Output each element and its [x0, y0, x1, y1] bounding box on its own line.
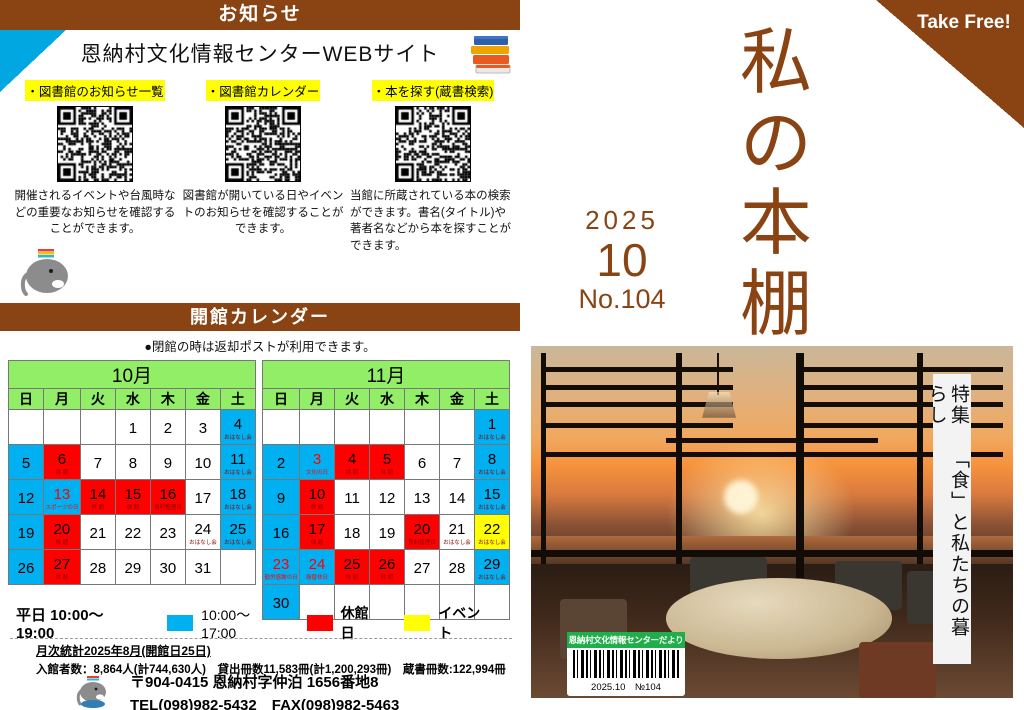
- calendar-week-row: 1234おはなし会: [9, 410, 256, 445]
- calendar-day-cell[interactable]: 21: [80, 515, 115, 550]
- window-louver: [541, 423, 734, 428]
- legend-event: イベント: [404, 603, 494, 643]
- title-char-1: 私: [716, 22, 836, 103]
- window-mullion: [541, 353, 546, 564]
- calendar-day-cell[interactable]: 21おはなし会: [440, 515, 475, 550]
- calendar-day-cell[interactable]: 8おはなし会: [475, 445, 510, 480]
- calendar-week-row: 56休 館7891011おはなし会: [9, 445, 256, 480]
- calendar-day-cell[interactable]: 17休 館: [300, 515, 335, 550]
- calendar-day-cell[interactable]: 12: [9, 480, 44, 515]
- calendar-day-cell[interactable]: 19: [370, 515, 405, 550]
- calendar-dow: 金: [440, 389, 475, 410]
- chair: [859, 642, 936, 698]
- calendar-day-cell[interactable]: 23勤労感謝の日: [263, 550, 300, 585]
- calendar-day-cell[interactable]: 23: [150, 515, 185, 550]
- window-louver: [541, 402, 734, 407]
- window-louver: [801, 402, 1003, 407]
- barcode-text: 2025.10 №104: [567, 679, 685, 693]
- legend-weekday-hours: 平日 10:00～19:00: [16, 604, 141, 642]
- calendar-day-cell[interactable]: 1おはなし会: [475, 410, 510, 445]
- calendar-day-cell[interactable]: 13スポーツの日: [44, 480, 81, 515]
- window-louver: [801, 423, 1003, 428]
- calendar-day-cell[interactable]: 3文化の日: [300, 445, 335, 480]
- calendar-day-cell[interactable]: 16資料整理日: [150, 480, 185, 515]
- calendar-day-cell[interactable]: 10: [185, 445, 220, 480]
- address-line-2: TEL(098)982-5432 FAX(098)982-5463: [130, 695, 399, 710]
- photo-sun: [724, 480, 758, 514]
- qr-description: 当館に所蔵されている本の検索ができます。書名(タイトル)や著者名などから本を探す…: [348, 188, 518, 255]
- calendar-day-cell[interactable]: [370, 410, 405, 445]
- qr-label: ・図書館カレンダー: [206, 80, 321, 101]
- calendar-dow: 土: [475, 389, 510, 410]
- newsletter-page: お知らせ 恩納村文化情報センターWEBサイト ・図書館のお知らせ一覧 開催される…: [0, 0, 1024, 710]
- window-louver: [801, 385, 1003, 390]
- calendar-month-label: 10月: [9, 361, 256, 389]
- calendar-day-cell[interactable]: [220, 550, 255, 585]
- legend-blue: 10:00～17:00: [167, 605, 285, 641]
- calendar-day-cell[interactable]: 7: [440, 445, 475, 480]
- calendar-day-cell[interactable]: 28: [80, 550, 115, 585]
- calendar-day-cell[interactable]: [440, 410, 475, 445]
- calendar-dow: 水: [115, 389, 150, 410]
- left-panel: お知らせ 恩納村文化情報センターWEBサイト ・図書館のお知らせ一覧 開催される…: [0, 0, 520, 710]
- calendar-day-cell[interactable]: 9: [263, 480, 300, 515]
- calendar-dow: 月: [300, 389, 335, 410]
- calendar-day-cell[interactable]: 2: [150, 410, 185, 445]
- calendar-day-cell[interactable]: 20休 館: [44, 515, 81, 550]
- calendar-day-cell[interactable]: 10休 館: [300, 480, 335, 515]
- calendar-section-header: 開館カレンダー: [0, 303, 520, 331]
- calendar-dow: 火: [335, 389, 370, 410]
- calendar-day-cell[interactable]: 13: [405, 480, 440, 515]
- calendar-day-cell[interactable]: 20資料整理日: [405, 515, 440, 550]
- legend-closed: 休館日: [307, 603, 383, 643]
- qr-code-calendar[interactable]: [225, 106, 301, 182]
- calendar-day-cell[interactable]: 25おはなし会: [220, 515, 255, 550]
- calendar-dow: 日: [9, 389, 44, 410]
- calendar-day-cell[interactable]: 11おはなし会: [220, 445, 255, 480]
- legend-swatch-red: [307, 615, 333, 631]
- issue-month: 10: [542, 236, 702, 284]
- calendar-day-cell[interactable]: [263, 410, 300, 445]
- calendar-day-cell[interactable]: 29: [115, 550, 150, 585]
- window-louver: [666, 438, 878, 443]
- calendar-day-cell[interactable]: [44, 410, 81, 445]
- calendar-day-cell[interactable]: 25休 館: [335, 550, 370, 585]
- calendar-day-cell[interactable]: 24振替休日: [300, 550, 335, 585]
- calendar-day-cell[interactable]: 18: [335, 515, 370, 550]
- calendar-day-cell[interactable]: 14: [440, 480, 475, 515]
- calendar-week-row: 1213スポーツの日14休 館15休 館16資料整理日1718おはなし会: [9, 480, 256, 515]
- calendar-dow: 木: [150, 389, 185, 410]
- issue-number: No.104: [542, 284, 702, 315]
- calendar-day-cell[interactable]: 28: [440, 550, 475, 585]
- calendar-day-cell[interactable]: 16: [263, 515, 300, 550]
- window-louver: [801, 367, 1003, 372]
- books-stack-icon: [468, 30, 514, 78]
- calendar-day-cell[interactable]: 15休 館: [115, 480, 150, 515]
- calendar-day-cell[interactable]: 14休 館: [80, 480, 115, 515]
- qr-description: 開催されるイベントや台風時などの重要なお知らせを確認することができます。: [10, 188, 180, 238]
- qr-block-notices[interactable]: ・図書館のお知らせ一覧 開催されるイベントや台風時などの重要なお知らせを確認する…: [10, 80, 180, 238]
- legend-closed-label: 休館日: [341, 603, 383, 643]
- window-louver: [541, 367, 734, 372]
- calendar-dow: 木: [405, 389, 440, 410]
- calendar-dow: 月: [44, 389, 81, 410]
- issue-year: 2025: [542, 205, 702, 236]
- qr-label: ・図書館のお知らせ一覧: [25, 80, 164, 101]
- qr-block-search[interactable]: ・本を探す(蔵書検索) 当館に所蔵されている本の検索ができます。書名(タイトル)…: [348, 80, 518, 255]
- barcode-title: 恩納村文化情報センターだより: [567, 632, 685, 648]
- calendar-week-row: 1617休 館181920資料整理日21おはなし会22おはなし会: [263, 515, 510, 550]
- calendar-day-cell[interactable]: 30: [150, 550, 185, 585]
- calendar-week-row: 1920休 館21222324おはなし会25おはなし会: [9, 515, 256, 550]
- address-line-1: 〒904-0415 恩納村字仲泊 1656番地8: [130, 672, 399, 695]
- qr-description: 図書館が開いている日やイベントのお知らせを確認することができます。: [178, 188, 348, 238]
- calendar-day-cell[interactable]: 22おはなし会: [475, 515, 510, 550]
- calendar-dow: 日: [263, 389, 300, 410]
- qr-block-calendar[interactable]: ・図書館カレンダー 図書館が開いている日やイベントのお知らせを確認することができ…: [178, 80, 348, 238]
- calendar-day-cell[interactable]: [9, 410, 44, 445]
- website-title: 恩納村文化情報センターWEBサイト: [60, 38, 460, 68]
- calendar-day-cell[interactable]: 24おはなし会: [185, 515, 220, 550]
- library-address: 〒904-0415 恩納村字仲泊 1656番地8 TEL(098)982-543…: [130, 672, 399, 710]
- legend-blue-label: 10:00～17:00: [201, 605, 285, 641]
- calendar-legend: 平日 10:00～19:00 10:00～17:00 休館日 イベント: [16, 612, 516, 634]
- window-mullion: [917, 353, 923, 564]
- calendar-day-cell[interactable]: 8: [115, 445, 150, 480]
- calendar-day-cell[interactable]: 9: [150, 445, 185, 480]
- qr-code-search[interactable]: [395, 106, 471, 182]
- legend-event-label: イベント: [438, 603, 494, 643]
- barcode-label: 恩納村文化情報センターだより 2025.10 №104: [567, 632, 685, 696]
- window-mullion: [796, 353, 804, 578]
- legend-swatch-yellow: [404, 615, 430, 631]
- window-mullion: [676, 353, 682, 564]
- calendar-day-cell[interactable]: 5休 館: [370, 445, 405, 480]
- title-char-3: 本: [716, 183, 836, 264]
- calendar-dow: 金: [185, 389, 220, 410]
- calendar-day-cell[interactable]: 31: [185, 550, 220, 585]
- right-panel: Take Free! 私 の 本 棚 2025 10 No.104: [520, 0, 1024, 710]
- window-louver: [541, 385, 734, 390]
- calendar-week-row: 23勤労感謝の日24振替休日25休 館26休 館272829おはなし会: [263, 550, 510, 585]
- calendar-week-row: 910休 館1112131415おはなし会: [263, 480, 510, 515]
- calendar-day-cell[interactable]: 18おはなし会: [220, 480, 255, 515]
- calendar-day-cell[interactable]: 11: [335, 480, 370, 515]
- calendar-day-cell[interactable]: 1: [115, 410, 150, 445]
- pendant-lamp-cord: [717, 353, 719, 395]
- calendar-day-cell[interactable]: [405, 410, 440, 445]
- qr-label: ・本を探す(蔵書検索): [372, 80, 495, 101]
- elephant-mascot-icon: [18, 248, 76, 296]
- return-post-note: ●閉館の時は返却ポストが利用できます。: [0, 336, 520, 355]
- legend-swatch-blue: [167, 615, 193, 631]
- calendar-week-row: 1おはなし会: [263, 410, 510, 445]
- publication-title: 私 の 本 棚: [716, 22, 836, 345]
- qr-code-notices[interactable]: [57, 106, 133, 182]
- calendar-day-cell[interactable]: 6休 館: [44, 445, 81, 480]
- calendar-day-cell[interactable]: 15おはなし会: [475, 480, 510, 515]
- calendar-day-cell[interactable]: 5: [9, 445, 44, 480]
- calendar-day-cell[interactable]: 17: [185, 480, 220, 515]
- calendar-day-cell[interactable]: 22: [115, 515, 150, 550]
- calendar-day-cell[interactable]: 26: [9, 550, 44, 585]
- calendar-dow: 土: [220, 389, 255, 410]
- calendar-day-cell[interactable]: 27: [405, 550, 440, 585]
- barcode-bars: [573, 650, 679, 678]
- calendar-day-cell[interactable]: [300, 410, 335, 445]
- calendar-week-row: 2627休 館28293031: [9, 550, 256, 585]
- take-free-badge: Take Free!: [912, 12, 1016, 34]
- calendar-week-row: 23文化の日4休 館5休 館678おはなし会: [263, 445, 510, 480]
- calendar-day-cell[interactable]: 2: [263, 445, 300, 480]
- calendar-day-cell[interactable]: 29おはなし会: [475, 550, 510, 585]
- calendar-month-label: 11月: [263, 361, 510, 389]
- calendar-day-cell[interactable]: 4おはなし会: [220, 410, 255, 445]
- calendar-day-cell[interactable]: 12: [370, 480, 405, 515]
- elephant-footer-icon: [74, 676, 112, 708]
- calendar-day-cell[interactable]: 6: [405, 445, 440, 480]
- feature-caption: 特集 「食」と私たちの暮らし: [933, 374, 971, 664]
- calendar-november: 11月日月火水木金土1おはなし会23文化の日4休 館5休 館678おはなし会91…: [262, 360, 510, 620]
- title-char-4: 棚: [716, 264, 836, 345]
- calendar-day-cell[interactable]: 3: [185, 410, 220, 445]
- calendar-day-cell[interactable]: [80, 410, 115, 445]
- calendar-day-cell[interactable]: 7: [80, 445, 115, 480]
- footer-divider: [10, 638, 512, 639]
- calendar-day-cell[interactable]: 4休 館: [335, 445, 370, 480]
- calendar-dow: 水: [370, 389, 405, 410]
- title-char-2: の: [716, 103, 836, 184]
- stats-heading: 月次統計2025年8月(開館日25日): [36, 642, 516, 659]
- calendar-day-cell[interactable]: 19: [9, 515, 44, 550]
- issue-info: 2025 10 No.104: [542, 205, 702, 315]
- calendar-day-cell[interactable]: 26休 館: [370, 550, 405, 585]
- calendar-october: 10月日月火水木金土1234おはなし会56休 館7891011おはなし会1213…: [8, 360, 256, 585]
- notice-section-header: お知らせ: [0, 0, 520, 30]
- calendar-day-cell[interactable]: [335, 410, 370, 445]
- calendar-day-cell[interactable]: 27休 館: [44, 550, 81, 585]
- calendar-dow: 火: [80, 389, 115, 410]
